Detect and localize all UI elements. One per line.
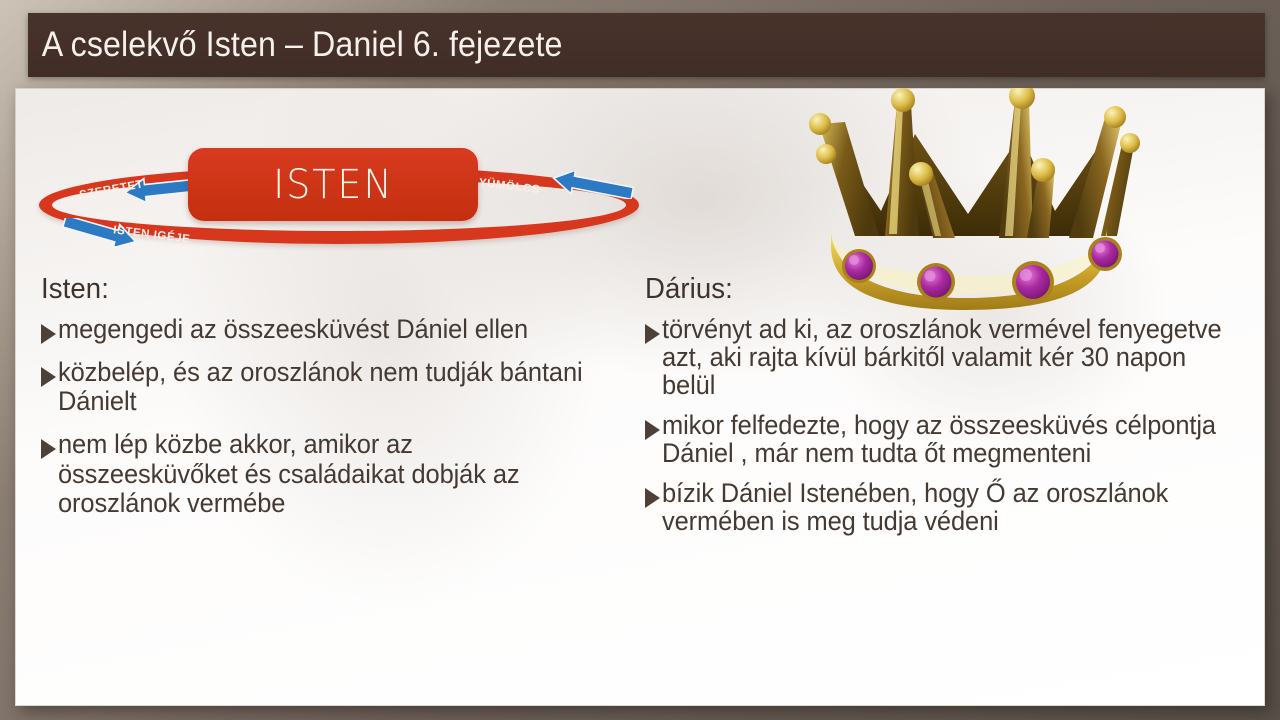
content-columns: Isten: megengedi az összeesküvést Dániel… [15, 273, 1265, 548]
triangle-bullet-icon [645, 420, 660, 440]
triangle-bullet-icon [41, 324, 56, 344]
list-item: törvényt ad ki, az oroszlánok vermével f… [645, 315, 1251, 399]
list-item-text: közbelép, és az oroszlánok nem tudják bá… [58, 358, 598, 416]
bullet-list-darius: törvényt ad ki, az oroszlánok vermével f… [645, 315, 1251, 536]
column-heading-isten: Isten: [41, 273, 592, 306]
slide-title-bar: A cselekvő Isten – Daniel 6. fejezete [28, 13, 1265, 77]
triangle-bullet-icon [645, 488, 660, 508]
column-isten: Isten: megengedi az összeesküvést Dániel… [15, 273, 635, 548]
triangle-bullet-icon [645, 324, 660, 344]
list-item-text: nem lép közbe akkor, amikor az összeeskü… [58, 430, 598, 517]
slide: A cselekvő Isten – Daniel 6. fejezete [0, 0, 1280, 720]
bullet-list-isten: megengedi az összeesküvést Dániel ellen … [41, 315, 621, 518]
arrow-right-side-icon [543, 171, 635, 199]
cycle-center-label: ISTEN [273, 162, 393, 208]
list-item-text: törvényt ad ki, az oroszlánok vermével f… [662, 315, 1227, 399]
list-item: megengedi az összeesküvést Dániel ellen [41, 315, 621, 344]
isten-cycle-diagram: SZERETET GYÜMÖLCS ISTEN IGÉJE ISTEN [33, 146, 648, 266]
list-item: mikor felfedezte, hogy az összeesküvés c… [645, 411, 1251, 467]
cycle-center-box: ISTEN [188, 148, 478, 221]
list-item: bízik Dániel Istenében, hogy Ő az oroszl… [645, 479, 1251, 535]
list-item: közbelép, és az oroszlánok nem tudják bá… [41, 358, 621, 416]
list-item-text: bízik Dániel Istenében, hogy Ő az oroszl… [662, 479, 1227, 535]
triangle-bullet-icon [41, 367, 56, 387]
list-item-text: mikor felfedezte, hogy az összeesküvés c… [662, 411, 1227, 467]
column-heading-darius: Dárius: [645, 273, 1221, 306]
page-title: A cselekvő Isten – Daniel 6. fejezete [28, 25, 563, 65]
list-item-text: megengedi az összeesküvést Dániel ellen [58, 315, 528, 344]
column-darius: Dárius: törvényt ad ki, az oroszlánok ve… [635, 273, 1265, 548]
slide-content-panel: SZERETET GYÜMÖLCS ISTEN IGÉJE ISTEN [15, 88, 1265, 706]
list-item: nem lép közbe akkor, amikor az összeeskü… [41, 430, 621, 517]
triangle-bullet-icon [41, 439, 56, 459]
